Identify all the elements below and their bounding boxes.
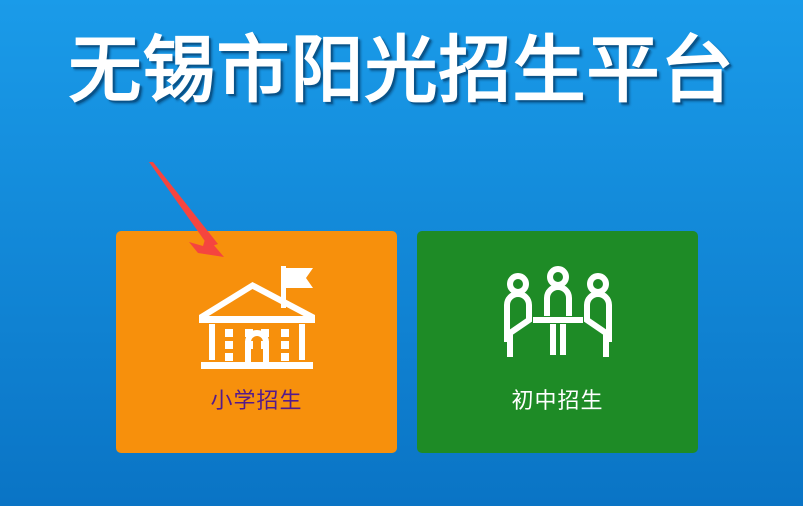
card-primary-school-label: 小学招生 xyxy=(210,388,302,416)
school-building-icon xyxy=(191,260,323,372)
meeting-people-icon xyxy=(492,260,624,372)
card-junior-high-school-label: 初中招生 xyxy=(511,388,603,416)
page-root: 无锡市阳光招生平台 xyxy=(0,0,803,506)
card-primary-school[interactable]: 小学招生 xyxy=(116,231,397,453)
page-title: 无锡市阳光招生平台 xyxy=(0,28,803,114)
entry-cards-row: 小学招生 xyxy=(116,231,698,453)
card-junior-high-school[interactable]: 初中招生 xyxy=(417,231,698,453)
